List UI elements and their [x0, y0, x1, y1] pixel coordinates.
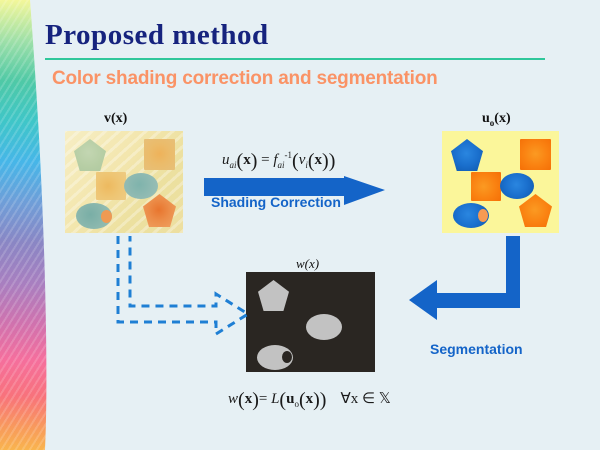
formula-top-inner-arg: x [315, 152, 323, 168]
corrected-shape-pentagon-1 [451, 139, 483, 171]
input-shape-pentagon-2 [143, 194, 176, 227]
slide-canvas: Proposed method Color shading correction… [0, 0, 600, 450]
formula-shading-correction: uai(x) = fai-1(vi(x)) [222, 150, 335, 173]
shading-correction-label: Shading Correction [211, 194, 341, 210]
page-subtitle: Color shading correction and segmentatio… [52, 68, 438, 90]
segmentation-label: Segmentation [430, 341, 523, 357]
segmented-shape-ellipse-2-hole [282, 351, 292, 363]
formula-bottom-equals: = [259, 391, 267, 407]
formula-bottom-inner-arg: x [306, 391, 314, 407]
formula-bottom-quantifier: ∀x ∈ 𝕏 [340, 391, 390, 407]
rainbow-decoration [0, 0, 52, 450]
input-shape-square-1 [144, 139, 175, 170]
corrected-shape-square-2 [471, 172, 501, 201]
segmented-image-panel [246, 272, 375, 372]
label-input-image: v(x) [104, 111, 127, 127]
formula-top-equals: = [261, 152, 269, 168]
formula-segmentation: w(x)= L(uo(x))∀x ∈ 𝕏 [228, 389, 391, 412]
formula-bottom-lhs-fn: w [228, 391, 238, 407]
input-shape-ellipse-2-notch [101, 210, 112, 223]
segmented-shape-ellipse-1 [306, 314, 342, 340]
input-image-panel [65, 131, 183, 233]
label-segmented-image: w(x) [296, 256, 319, 272]
label-corrected-image: uo(x) [482, 111, 511, 128]
corrected-shape-ellipse-2-notch [478, 209, 488, 222]
input-shape-pentagon-1 [74, 139, 106, 171]
page-title: Proposed method [45, 19, 269, 52]
segmentation-arrow [409, 236, 534, 338]
input-shape-square-2 [96, 172, 126, 200]
corrected-shape-ellipse-1 [500, 173, 534, 199]
corrected-shape-square-1 [520, 139, 551, 170]
formula-top-rhs-sup: -1 [285, 150, 293, 160]
formula-top-arg: x [243, 152, 251, 168]
formula-top-rhs-sub: ai [278, 160, 285, 170]
formula-top-lhs-fn: u [222, 152, 230, 168]
title-divider [45, 58, 545, 60]
segmented-shape-pentagon [258, 280, 289, 311]
corrected-shape-pentagon-2 [519, 194, 552, 227]
formula-top-lhs-sub: ai [230, 160, 237, 170]
input-shape-ellipse-1 [124, 173, 158, 199]
corrected-image-panel [442, 131, 559, 233]
feedback-dashed-arrow [108, 236, 253, 348]
